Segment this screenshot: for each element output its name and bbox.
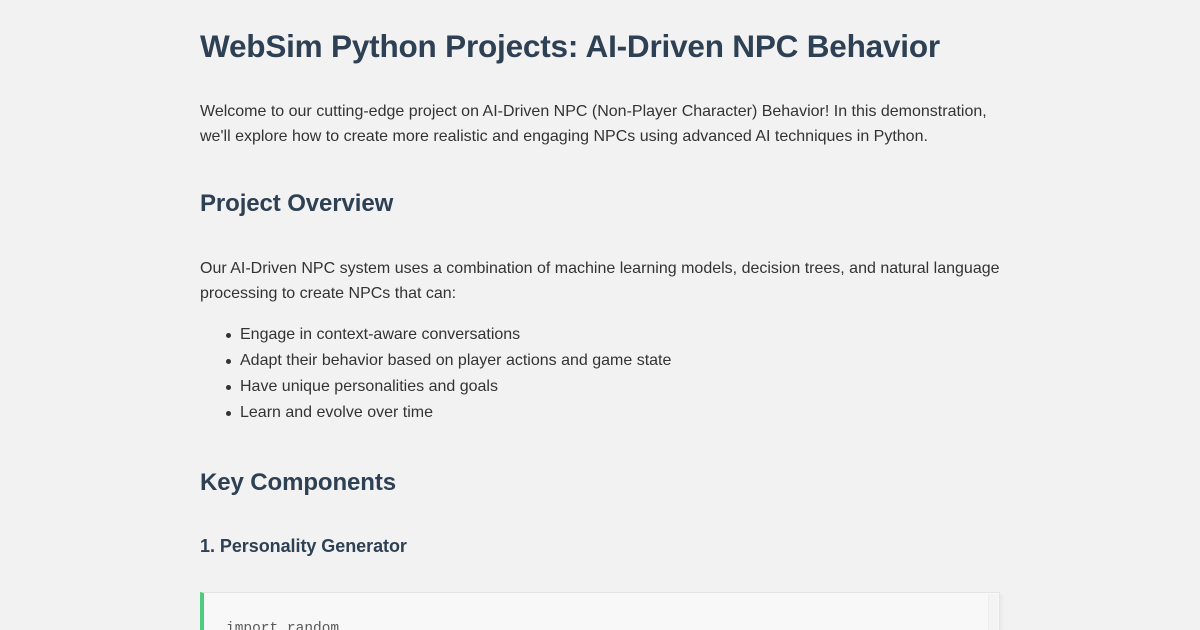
section-heading-key-components: Key Components: [200, 426, 1000, 498]
code-block-scrollbar[interactable]: [988, 594, 998, 630]
page-root: WebSim Python Projects: AI-Driven NPC Be…: [0, 0, 1200, 630]
sub-heading-personality-generator: 1. Personality Generator: [200, 498, 1000, 558]
page-title: WebSim Python Projects: AI-Driven NPC Be…: [200, 0, 1000, 66]
code-block-content: import random class PersonalityGenerator…: [226, 617, 979, 630]
content-container: WebSim Python Projects: AI-Driven NPC Be…: [200, 0, 1000, 630]
list-item: Engage in context-aware conversations: [240, 322, 1000, 348]
list-item: Learn and evolve over time: [240, 400, 1000, 426]
overview-paragraph: Our AI-Driven NPC system uses a combinat…: [200, 219, 1000, 306]
npc-capability-list: Engage in context-aware conversations Ad…: [200, 306, 1000, 426]
code-block-personality-generator[interactable]: import random class PersonalityGenerator…: [200, 592, 1000, 630]
intro-paragraph: Welcome to our cutting-edge project on A…: [200, 66, 1000, 149]
list-item: Adapt their behavior based on player act…: [240, 348, 1000, 374]
section-heading-project-overview: Project Overview: [200, 149, 1000, 219]
list-item: Have unique personalities and goals: [240, 374, 1000, 400]
